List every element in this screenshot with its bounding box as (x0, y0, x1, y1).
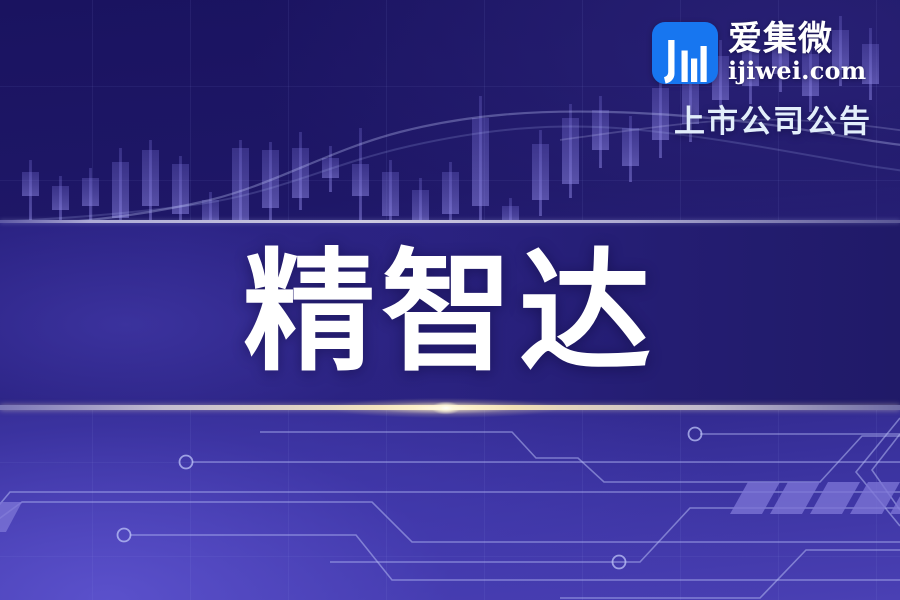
circuit-node-icon (180, 456, 193, 469)
circuit-node-icon (118, 529, 131, 542)
bar-chart-j-logo-icon (652, 22, 718, 84)
brand-block: 爱集微 ijiwei.com 上市公司公告 (652, 22, 872, 141)
brand-domain: ijiwei.com (728, 58, 866, 84)
announcement-banner-image: 精智达 (0, 0, 900, 600)
page-title: 精智达 (0, 220, 900, 410)
circuit-node-icon (689, 428, 702, 441)
slash-bars (0, 482, 900, 532)
brand-category-label: 上市公司公告 (652, 96, 872, 141)
circuit-lines (0, 410, 900, 600)
brand-name-cn: 爱集微 (728, 22, 866, 57)
